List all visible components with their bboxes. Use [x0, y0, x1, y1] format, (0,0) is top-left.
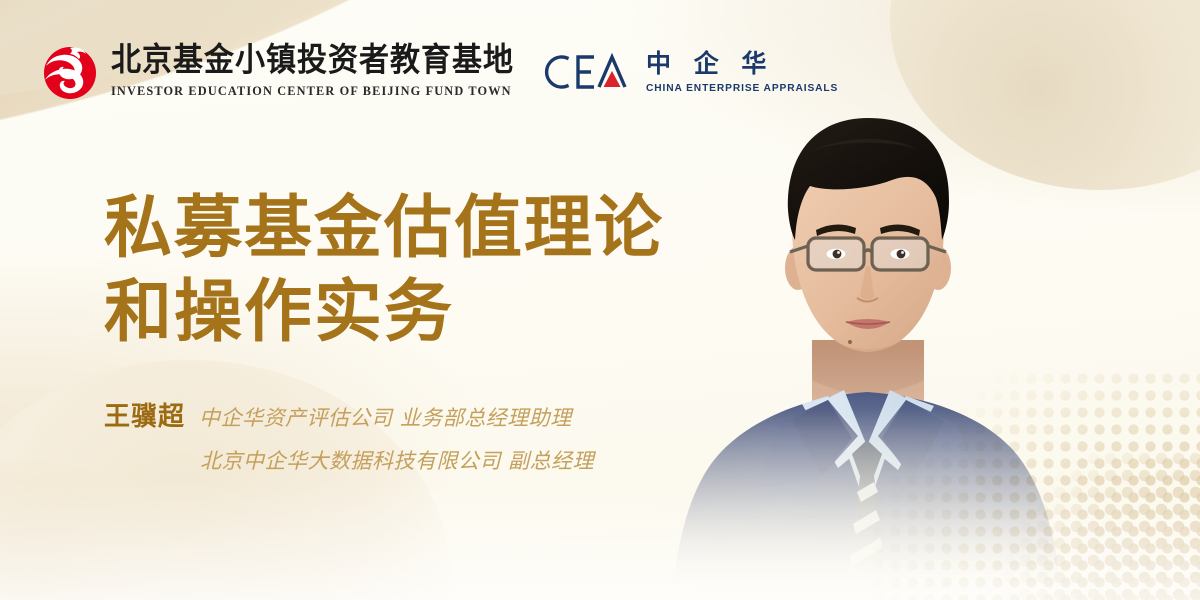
cea-text: 中 企 华 CHINA ENTERPRISE APPRAISALS [646, 51, 838, 94]
speaker-primary-row: 王骥超 中企华资产评估公司 业务部总经理助理 [104, 396, 594, 433]
speaker-block: 王骥超 中企华资产评估公司 业务部总经理助理 北京中企华大数据科技有限公司 副总… [104, 396, 594, 475]
cea-chinese-name: 中 企 华 [646, 51, 838, 76]
iec-chinese-name: 北京基金小镇投资者教育基地 [111, 44, 514, 76]
speaker-name: 王骥超 [104, 396, 185, 433]
event-banner: 北京基金小镇投资者教育基地 INVESTOR EDUCATION CENTER … [0, 0, 1200, 600]
speaker-portrait [652, 40, 1082, 600]
cea-wordmark-icon [540, 49, 632, 95]
iec-english-name: INVESTOR EDUCATION CENTER OF BEIJING FUN… [111, 85, 514, 97]
headline-line-2: 和操作实务 [104, 270, 664, 354]
speaker-role-line-2: 北京中企华大数据科技有限公司 副总经理 [200, 445, 594, 475]
investor-education-logo: 北京基金小镇投资者教育基地 INVESTOR EDUCATION CENTER … [40, 42, 514, 102]
page-title: 私募基金估值理论 和操作实务 [104, 186, 664, 354]
cea-logo: 中 企 华 CHINA ENTERPRISE APPRAISALS [540, 49, 838, 95]
headline-line-1: 私募基金估值理论 [104, 186, 664, 270]
beijing-fund-town-swirl-emblem [40, 42, 100, 102]
logo-bar: 北京基金小镇投资者教育基地 INVESTOR EDUCATION CENTER … [40, 42, 838, 102]
cea-english-name: CHINA ENTERPRISE APPRAISALS [646, 83, 838, 94]
speaker-role-line-1: 中企华资产评估公司 业务部总经理助理 [199, 402, 572, 432]
investor-education-text: 北京基金小镇投资者教育基地 INVESTOR EDUCATION CENTER … [111, 47, 514, 97]
